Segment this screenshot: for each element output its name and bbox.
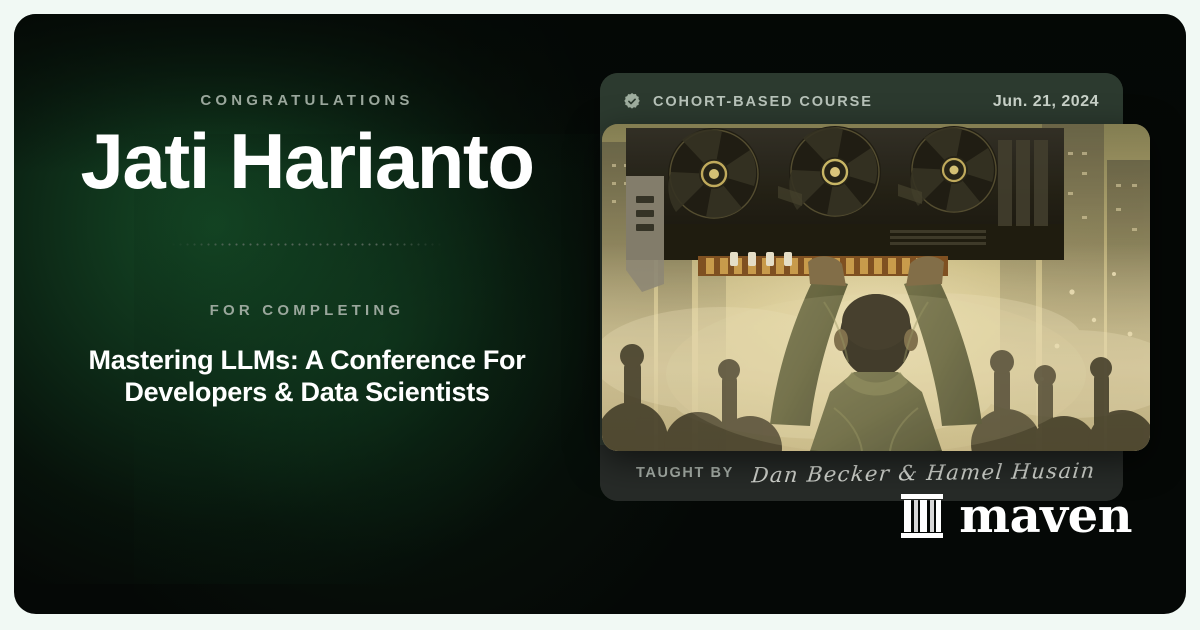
course-date: Jun. 21, 2024 bbox=[993, 93, 1099, 111]
cohort-badge-group: COHORT-BASED COURSE bbox=[622, 92, 873, 112]
cohort-based-course-label: COHORT-BASED COURSE bbox=[653, 94, 873, 110]
course-title: Mastering LLMs: A Conference For Develop… bbox=[62, 345, 552, 409]
certificate-text-column: CONGRATULATIONS Jati Harianto FOR COMPLE… bbox=[14, 14, 600, 614]
certificate-card: CONGRATULATIONS Jati Harianto FOR COMPLE… bbox=[14, 14, 1186, 614]
maven-logo: maven bbox=[901, 492, 1132, 540]
congratulations-label: CONGRATULATIONS bbox=[200, 92, 413, 109]
maven-wordmark: maven bbox=[959, 492, 1132, 540]
instructors-signature: Dan Becker & Hamel Husain bbox=[750, 459, 1096, 488]
for-completing-label: FOR COMPLETING bbox=[210, 302, 405, 319]
dotted-divider bbox=[170, 243, 444, 246]
maven-pillar-icon bbox=[901, 494, 943, 538]
recipient-name: Jati Harianto bbox=[81, 123, 534, 199]
course-card-header: COHORT-BASED COURSE Jun. 21, 2024 bbox=[600, 73, 1123, 131]
course-artwork-image bbox=[602, 124, 1150, 451]
certificate-page: CONGRATULATIONS Jati Harianto FOR COMPLE… bbox=[0, 0, 1200, 630]
taught-by-label: TAUGHT BY bbox=[636, 465, 734, 481]
verified-check-badge-icon bbox=[622, 92, 642, 112]
